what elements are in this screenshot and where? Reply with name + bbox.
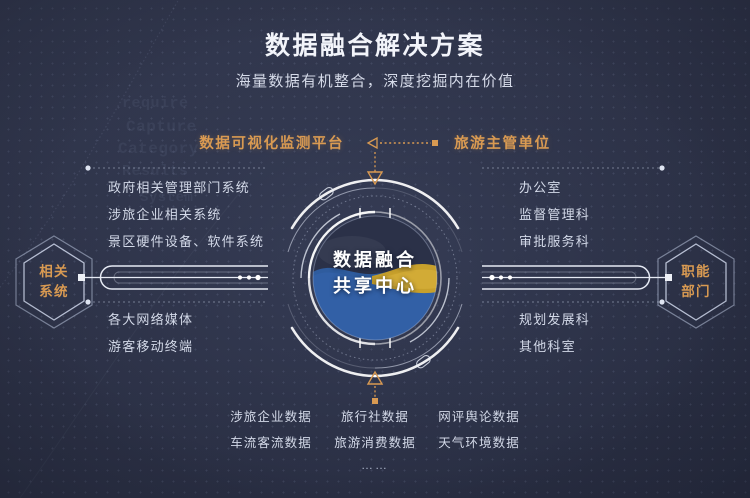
bottom-data-cell[interactable]: 旅行社数据	[323, 404, 427, 430]
core-sphere	[313, 216, 437, 345]
left-track-node	[78, 274, 85, 281]
left-source-list-bottom: 各大网络媒体 游客移动终端	[108, 306, 193, 360]
list-item[interactable]: 办公室	[519, 174, 590, 201]
list-item[interactable]: 各大网络媒体	[108, 306, 193, 333]
list-item[interactable]: 游客移动终端	[108, 333, 193, 360]
bottom-data-column: 网评舆论数据 天气环境数据	[427, 404, 531, 456]
bottom-data-grid: 涉旅企业数据 车流客流数据 旅行社数据 旅游消费数据 网评舆论数据 天气环境数据	[0, 404, 750, 456]
infographic-canvas: require Capture Category Results System …	[0, 0, 750, 498]
list-item[interactable]: 景区硬件设备、软件系统	[108, 228, 264, 255]
bottom-data-cell[interactable]: 天气环境数据	[427, 430, 531, 456]
list-item[interactable]: 审批服务科	[519, 228, 590, 255]
list-item[interactable]: 其他科室	[519, 333, 590, 360]
bottom-data-ellipsis: ……	[0, 458, 750, 472]
right-track-node	[665, 274, 672, 281]
list-item[interactable]: 监督管理科	[519, 201, 590, 228]
list-item[interactable]: 政府相关管理部门系统	[108, 174, 264, 201]
right-department-list-bottom: 规划发展科 其他科室	[519, 306, 590, 360]
bottom-data-cell[interactable]: 涉旅企业数据	[219, 404, 323, 430]
bottom-data-cell[interactable]: 车流客流数据	[219, 430, 323, 456]
bottom-data-column: 旅行社数据 旅游消费数据	[323, 404, 427, 456]
bottom-data-cell[interactable]: 旅游消费数据	[323, 430, 427, 456]
right-department-list-top: 办公室 监督管理科 审批服务科	[519, 174, 590, 255]
left-source-list-top: 政府相关管理部门系统 涉旅企业相关系统 景区硬件设备、软件系统	[108, 174, 264, 255]
bottom-data-column: 涉旅企业数据 车流客流数据	[219, 404, 323, 456]
bottom-data-cell[interactable]: 网评舆论数据	[427, 404, 531, 430]
list-item[interactable]: 规划发展科	[519, 306, 590, 333]
list-item[interactable]: 涉旅企业相关系统	[108, 201, 264, 228]
